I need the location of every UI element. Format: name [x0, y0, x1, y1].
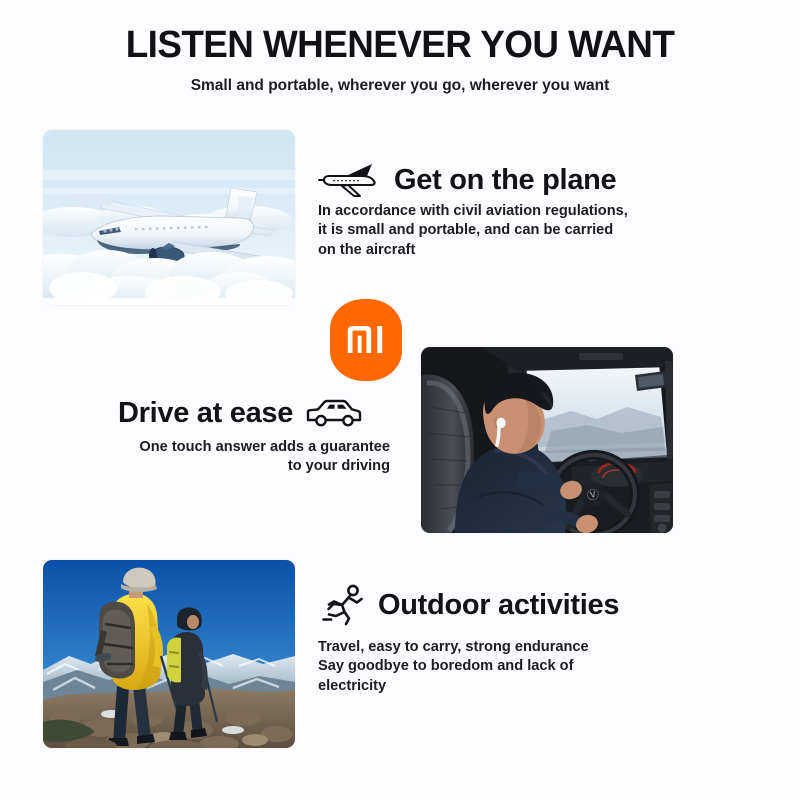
mi-brand-logo — [330, 299, 402, 381]
feature-heading-outdoor-label: Outdoor activities — [378, 589, 619, 622]
car-icon — [305, 396, 363, 430]
feature-heading-outdoor: Outdoor activities — [320, 583, 619, 627]
promo-page: LISTEN WHENEVER YOU WANT Small and porta… — [0, 0, 800, 800]
feature-body-outdoor: Travel, easy to carry, strong endurance … — [318, 638, 678, 696]
running-person-icon — [320, 583, 366, 627]
page-title: LISTEN WHENEVER YOU WANT — [12, 24, 788, 67]
feature-heading-drive: Drive at ease — [118, 396, 363, 430]
feature-heading-drive-label: Drive at ease — [118, 397, 293, 430]
airplane-above-clouds-photo — [43, 130, 295, 305]
feature-body-plane: In accordance with civil aviation regula… — [318, 202, 698, 260]
mi-wordmark — [346, 325, 386, 355]
feature-body-drive: One touch answer adds a guarantee to you… — [90, 438, 390, 477]
man-driving-car-photo: Ⓥ — [421, 347, 673, 533]
page-subtitle: Small and portable, wherever you go, whe… — [0, 77, 800, 95]
airplane-icon — [318, 160, 382, 200]
hikers-on-mountain-photo — [43, 560, 295, 748]
feature-heading-plane-label: Get on the plane — [394, 164, 616, 197]
feature-heading-plane: Get on the plane — [318, 160, 616, 200]
